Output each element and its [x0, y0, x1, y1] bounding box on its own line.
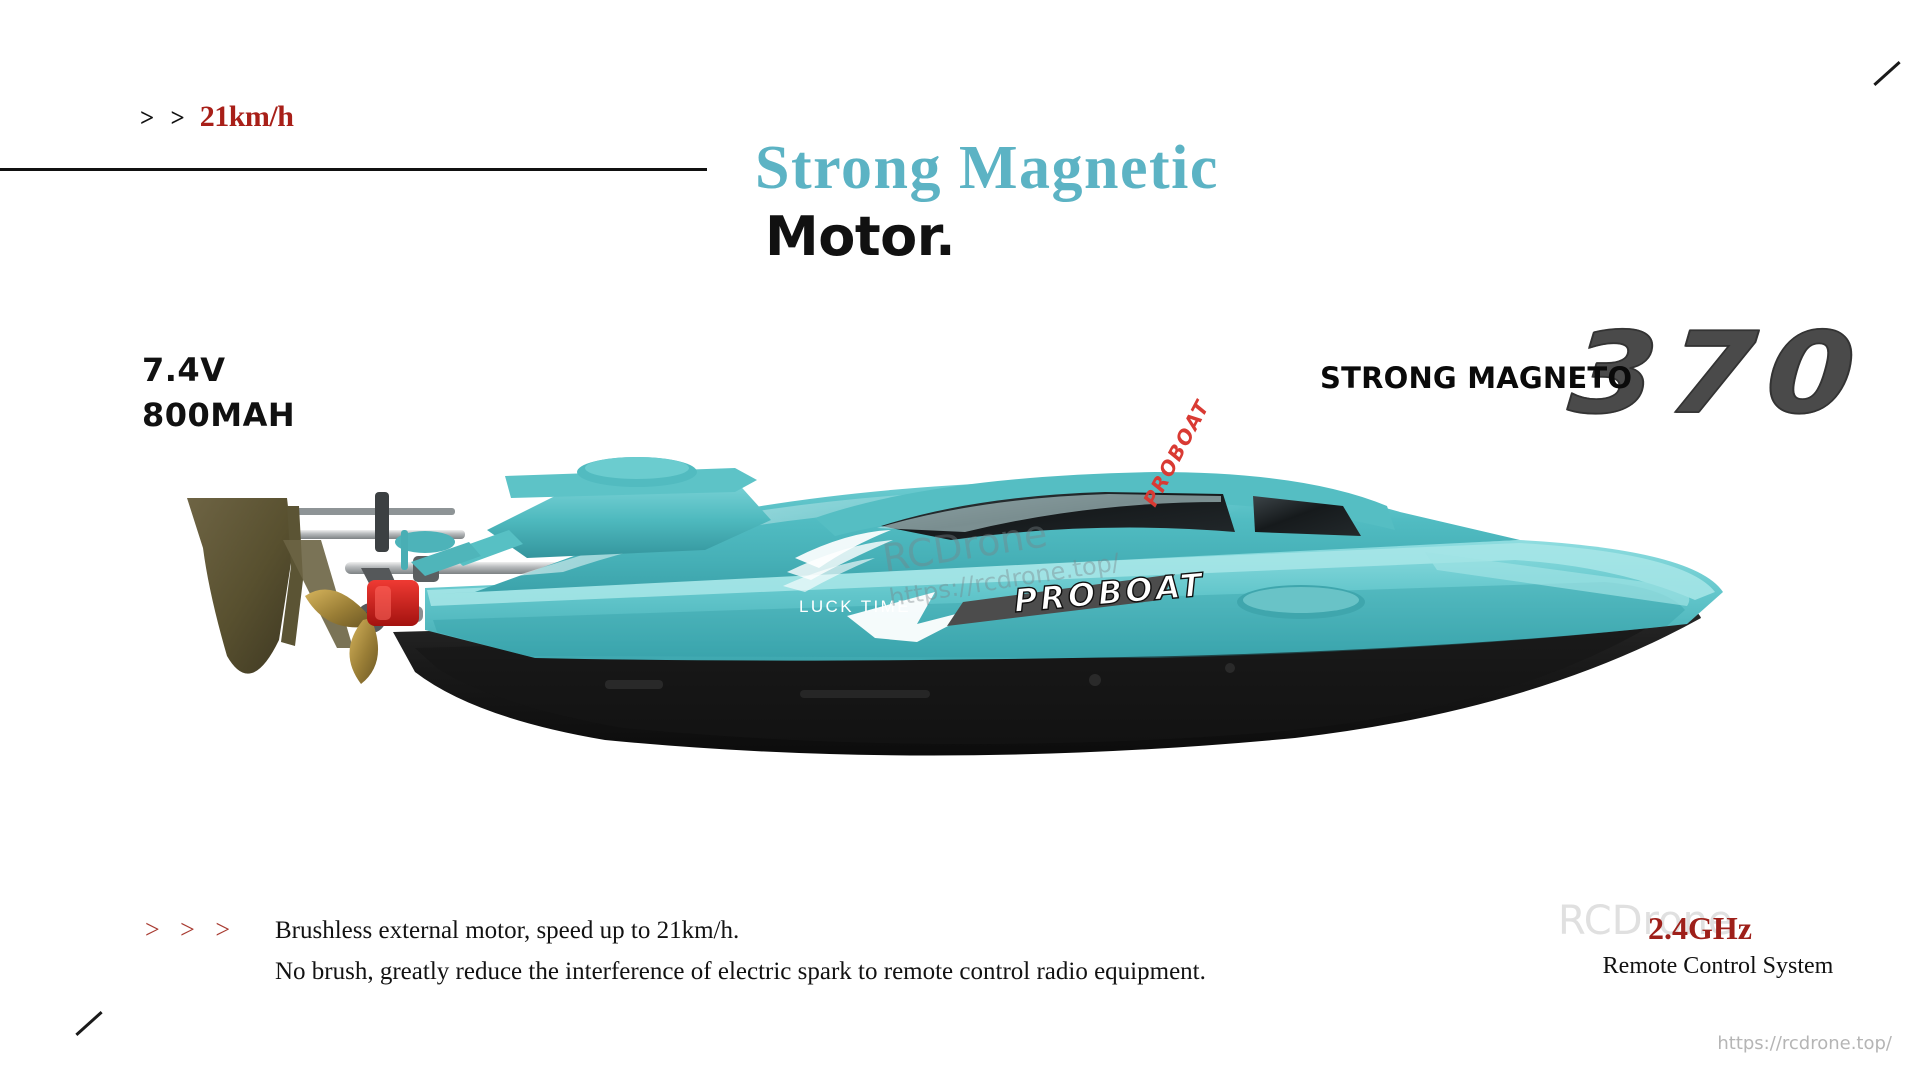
headline-line-2: Motor. [765, 207, 1455, 267]
speed-badge: > > 21km/h [140, 100, 293, 134]
hull-vent-grille [1237, 585, 1365, 619]
header-divider [0, 168, 707, 171]
rc-boat-graphic: LUCK TIME PROBOAT PROBOAT [175, 380, 1775, 840]
radio-subtitle: Remote Control System [1548, 953, 1888, 980]
corner-tick-top-right-icon [1873, 61, 1900, 86]
radio-frequency: 2.4GHz [1648, 910, 1752, 947]
radio-system-block: RCDrone 2.4GHz Remote Control System [1548, 898, 1888, 988]
speed-value: 21km/h [200, 100, 294, 134]
description-text: Brushless external motor, speed up to 21… [275, 910, 1206, 992]
product-feature-slide: > > 21km/h Strong Magnetic Motor. 7.4V 8… [0, 0, 1920, 1080]
description-block: > > > Brushless external motor, speed up… [145, 910, 1206, 992]
chevron-right-red-icon: > > > [145, 910, 237, 950]
headline-line-1: Strong Magnetic [755, 135, 1455, 201]
corner-tick-bottom-left-icon [75, 1011, 102, 1036]
chevron-right-icon: > > [140, 105, 190, 133]
boat-illustration: LUCK TIME PROBOAT PROBOAT [175, 380, 1775, 840]
headline: Strong Magnetic Motor. [755, 135, 1455, 267]
description-line-1: Brushless external motor, speed up to 21… [275, 910, 1206, 951]
tail-light [367, 580, 419, 626]
description-line-2: No brush, greatly reduce the interferenc… [275, 951, 1206, 992]
site-url[interactable]: https://rcdrone.top/ [1717, 1033, 1892, 1054]
antenna-mast [401, 530, 408, 570]
